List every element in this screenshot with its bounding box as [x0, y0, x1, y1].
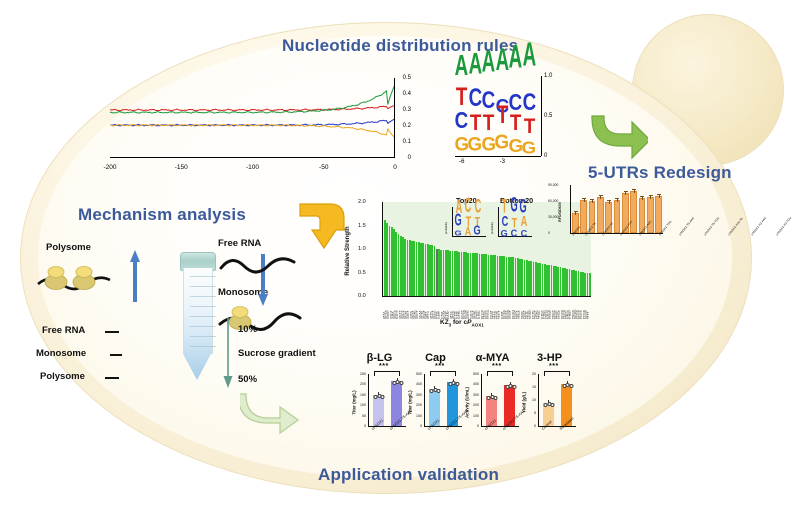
inset-logo-letter-G: G [501, 230, 508, 237]
significance-bracket [374, 371, 400, 376]
label-monosome-fraction: Monosome [36, 348, 86, 359]
inset-top20-y-label: probability [445, 222, 448, 234]
label-polysome-fraction: Polysome [40, 371, 85, 382]
data-points [374, 394, 383, 400]
bar-chart-x-label: GAAC [447, 297, 449, 319]
bar-chart-y-tick: 2.0 [358, 199, 366, 205]
validation-chart-3: α-MYAActivity (U/mL)0100200300400500cPAO… [465, 352, 520, 444]
dash-polysome [105, 377, 119, 379]
line-chart-x-tick: 0 [393, 164, 397, 171]
logo-column--5: ACTG [470, 78, 482, 158]
validation-chart-y-tick: 200 [408, 403, 422, 407]
line-chart-curves [110, 78, 395, 158]
sucrose-gradient-arrow [222, 318, 234, 390]
line-chart-y-tick: 0.2 [403, 123, 411, 129]
free-rna-squiggle [218, 252, 304, 278]
bar-chart-x-label: GTGC [541, 297, 543, 319]
bar-chart-x-label: CTGC [569, 297, 571, 319]
utr-redesign-rfu-bar-chart: RFU/OD600 030,00060,00090,000 cPAOX1cPAO… [548, 182, 666, 262]
error-bar [600, 195, 601, 199]
line-chart-y-tick: 0.3 [403, 107, 411, 113]
bar-chart-x-axis-label: KZ3 for cPAOX1 [440, 319, 484, 327]
section-title-application-validation: Application validation [318, 465, 499, 485]
error-bar [659, 194, 660, 198]
significance-marker: *** [435, 363, 445, 370]
polysome-illustration [36, 258, 114, 294]
inset-logo-letter-A: A [465, 229, 472, 239]
bar-chart-x-label: TTGG [538, 297, 540, 319]
bar-chart-x-tick-labels: ATAAGCAAAAGCAACAAATAAGCAGACCAGTTAGCCACCA… [383, 297, 589, 319]
dash-monosome [110, 354, 122, 356]
validation-chart-2: CapTiter (mg/L)0100200300400500cPAOX1cPA… [408, 352, 463, 444]
seq-logo-y-tick: 0 [544, 153, 547, 159]
bar-chart-x-label: GATG [458, 297, 460, 319]
orange-chart-y-tick: 90,000 [548, 183, 558, 187]
bar-chart-x-label: GTAG [478, 297, 480, 319]
validation-chart-y-tick: 0 [465, 424, 479, 428]
logo-column--1: ACTG [524, 78, 536, 158]
line-chart-y-axis [394, 78, 395, 158]
sequence-logo-x-axis [455, 156, 541, 157]
orange-chart-y-tick: 30,000 [548, 215, 558, 219]
validation-chart-y-tick: 300 [465, 393, 479, 397]
bar-chart-x-label: AGAA [419, 297, 421, 319]
data-points [430, 388, 439, 394]
logo-letter-G: G [468, 138, 483, 158]
line-chart-y-tick: 0 [408, 155, 411, 161]
label-gradient-50-percent: 50% [238, 374, 257, 385]
bar-chart-y-tick: 1.0 [358, 246, 366, 252]
tube-body [183, 268, 213, 354]
bar-chart-x-label: TCGA [518, 297, 520, 319]
data-point [399, 381, 403, 385]
line-chart-y-tick: 0.5 [403, 75, 411, 81]
inset-logo-letter-C: C [511, 230, 518, 238]
line-chart-y-tick: 0.4 [403, 91, 411, 97]
validation-chart-y-tick: 300 [408, 393, 422, 397]
significance-marker: *** [379, 363, 389, 370]
seq-logo-y-tick: 1.0 [544, 73, 552, 79]
validation-chart-y-tick: 10 [522, 398, 536, 402]
line-series-G [110, 124, 395, 138]
data-point [494, 396, 498, 400]
bar-chart-x-label: CGGC [549, 297, 551, 319]
orange-chart-x-tick-labels: cPAOX1cPAOX1-T5cPAOX1-K2cPAOX1-K1AcPAOX1… [571, 234, 661, 260]
validation-chart-y-tick: 400 [408, 382, 422, 386]
significance-bracket [487, 371, 513, 376]
validation-chart-y-tick: 15 [522, 385, 536, 389]
line-chart-x-tick: -100 [246, 164, 259, 171]
validation-chart-y-label: Yield (g/L) [522, 392, 527, 413]
bar-chart-x-label: CACA [470, 297, 472, 319]
validation-chart-y-tick: 150 [352, 393, 366, 397]
bar-chart-x-label: AAGT [407, 297, 409, 319]
logo-column--3: ACTG [497, 78, 509, 158]
bar-chart-y-tick: 0.0 [358, 293, 366, 299]
validation-chart-y-tick: 500 [408, 372, 422, 376]
inset-logo-column: AGG [455, 209, 462, 237]
line-chart-x-tick: -150 [175, 164, 188, 171]
validation-chart-y-tick: 0 [522, 424, 536, 428]
data-points [505, 384, 514, 390]
section-title-mechanism-analysis: Mechanism analysis [78, 205, 246, 225]
data-points [392, 380, 401, 386]
error-bar [650, 195, 651, 199]
data-points [562, 383, 571, 389]
pale-green-arrow-to-application [240, 388, 304, 438]
bar-chart-x-label: TCCT [498, 297, 500, 319]
bar-chart-x-label: CGCC [580, 297, 582, 319]
label-polysome-top: Polysome [46, 242, 91, 253]
bar-chart-x-label: AGCT [416, 297, 418, 319]
validation-chart-y-tick: 200 [352, 382, 366, 386]
inset-bottom20-y-label: probability [491, 222, 494, 234]
bar-chart-x-label: GGGC [529, 297, 531, 319]
line-chart-x-tick: -50 [319, 164, 328, 171]
error-bar [609, 200, 610, 204]
orange-chart-y-tick: 60,000 [548, 199, 558, 203]
bar-chart-x-label: ATCA [427, 297, 429, 319]
significance-marker: *** [549, 363, 559, 370]
line-chart-x-axis [110, 157, 395, 158]
error-bar [625, 191, 626, 195]
error-bar [575, 211, 576, 215]
data-point [512, 385, 516, 389]
logo-letter-G: G [495, 135, 510, 158]
error-bar [584, 198, 585, 202]
error-bar [592, 199, 593, 203]
nucleotide-distribution-line-chart: 00.10.20.30.40.5 -200-150-100-500 [110, 78, 395, 173]
bar-chart-x-label: GGCG [561, 297, 563, 319]
error-bar [634, 189, 635, 193]
seq-logo-y-tick: 0.5 [544, 113, 552, 119]
validation-chart-y-tick: 250 [352, 372, 366, 376]
significance-bracket [430, 371, 456, 376]
inset-logo-column: GTC [511, 209, 518, 237]
error-bar [617, 198, 618, 202]
bar-chart-x-label: CCGT [509, 297, 511, 319]
inset-logo-letter-C: C [520, 230, 527, 237]
label-free-rna-top: Free RNA [218, 238, 261, 249]
logo-column--4: ACTG [483, 78, 495, 158]
validation-chart-y-tick: 200 [465, 403, 479, 407]
bar-chart-x-label: CATT [438, 297, 440, 319]
bar-chart-x-label: GACC [396, 297, 398, 319]
line-series-A [110, 105, 395, 111]
validation-chart-y-tick: 500 [465, 372, 479, 376]
graphical-abstract: Nucleotide distribution rules Mechanism … [0, 0, 799, 510]
centrifuge-tube [178, 252, 216, 382]
line-series-C [110, 119, 395, 126]
bar-chart-bar [589, 273, 591, 296]
inset-logo-column: GAC [520, 209, 527, 237]
yellow-arrow-to-bar-chart [296, 200, 352, 256]
bar-chart-x-label: AGTT [399, 297, 401, 319]
dash-free-rna [105, 331, 119, 333]
data-point [381, 395, 385, 399]
label-free-rna-fraction: Free RNA [42, 325, 85, 336]
bar-chart-y-axis-label: Relative Strength [345, 226, 351, 275]
bar-chart-x-label: AAGC [387, 297, 389, 319]
seq-logo-x-tick: -3 [500, 159, 505, 165]
label-sucrose-gradient: Sucrose gradient [238, 348, 316, 359]
orange-chart-y-axis-label: RFU/OD600 [558, 202, 562, 222]
tube-tip [183, 354, 211, 380]
inset-logo-letter-G: G [455, 232, 462, 237]
inset-logo-column: CTG [474, 209, 481, 237]
orange-chart-y-tick: 0 [548, 231, 550, 235]
data-point [551, 403, 555, 407]
validation-chart-y-tick: 0 [408, 424, 422, 428]
inset-logo-column: CTA [465, 209, 472, 237]
significance-bracket [544, 371, 570, 376]
bar-chart-y-tick: 1.5 [358, 223, 366, 229]
validation-chart-y-tick: 20 [522, 372, 536, 376]
validation-chart-y-tick: 100 [352, 403, 366, 407]
bar-chart-x-label: CCGC [558, 297, 560, 319]
blue-up-arrow [128, 248, 142, 304]
sequence-logo-y-axis [541, 76, 542, 156]
logo-column--6: ATCG [456, 78, 468, 158]
data-point [437, 389, 441, 393]
inset-sequence-logo-top20: probability AGGCTACTG [452, 206, 492, 240]
bar-chart-x-label: CGAT [490, 297, 492, 319]
data-points [448, 381, 457, 387]
validation-chart-4: 3-HPYield (g/L)05101520ControlRegulated*… [522, 352, 577, 444]
logo-column--2: ACTG [510, 78, 522, 158]
seq-logo-x-tick: -6 [459, 159, 464, 165]
significance-marker: *** [492, 363, 502, 370]
data-points [544, 402, 553, 408]
bar-chart-x-label: TTTT [587, 297, 589, 319]
validation-chart-1: β-LGTiter (mg/L)050100150200250cPAOX1cPA… [352, 352, 407, 444]
data-points [487, 395, 496, 401]
inset-logo-letter-G: G [474, 227, 481, 239]
data-point [569, 384, 573, 388]
validation-chart-y-tick: 100 [408, 414, 422, 418]
kozak-sequence-logo: ATCGACTGACTGACTGACTGACTG 00.51.0 -6-3 [455, 76, 540, 176]
validation-chart-y-tick: 50 [352, 414, 366, 418]
error-bar [642, 196, 643, 200]
line-chart-y-tick: 0.1 [403, 139, 411, 145]
orange-chart-x-label: cPAOX1-K2-TGa [775, 216, 799, 250]
inset-sequence-logo-bottom20: probability TCGGTCGAC [498, 206, 538, 240]
label-gradient-10-percent: 10% [238, 324, 257, 335]
validation-chart-y-tick: 0 [352, 424, 366, 428]
inset-logo-column: TCG [501, 209, 508, 237]
validation-chart-y-tick: 400 [465, 382, 479, 386]
data-point [455, 382, 459, 386]
validation-chart-y-tick: 5 [522, 411, 536, 415]
bar-chart-x-label: AACG [467, 297, 469, 319]
green-arrow-to-utr-redesign [588, 108, 648, 170]
bar-chart-x-label: CCGA [487, 297, 489, 319]
bar-chart-y-tick: 0.5 [358, 270, 366, 276]
validation-chart-y-tick: 100 [465, 414, 479, 418]
line-chart-x-tick: -200 [103, 164, 116, 171]
